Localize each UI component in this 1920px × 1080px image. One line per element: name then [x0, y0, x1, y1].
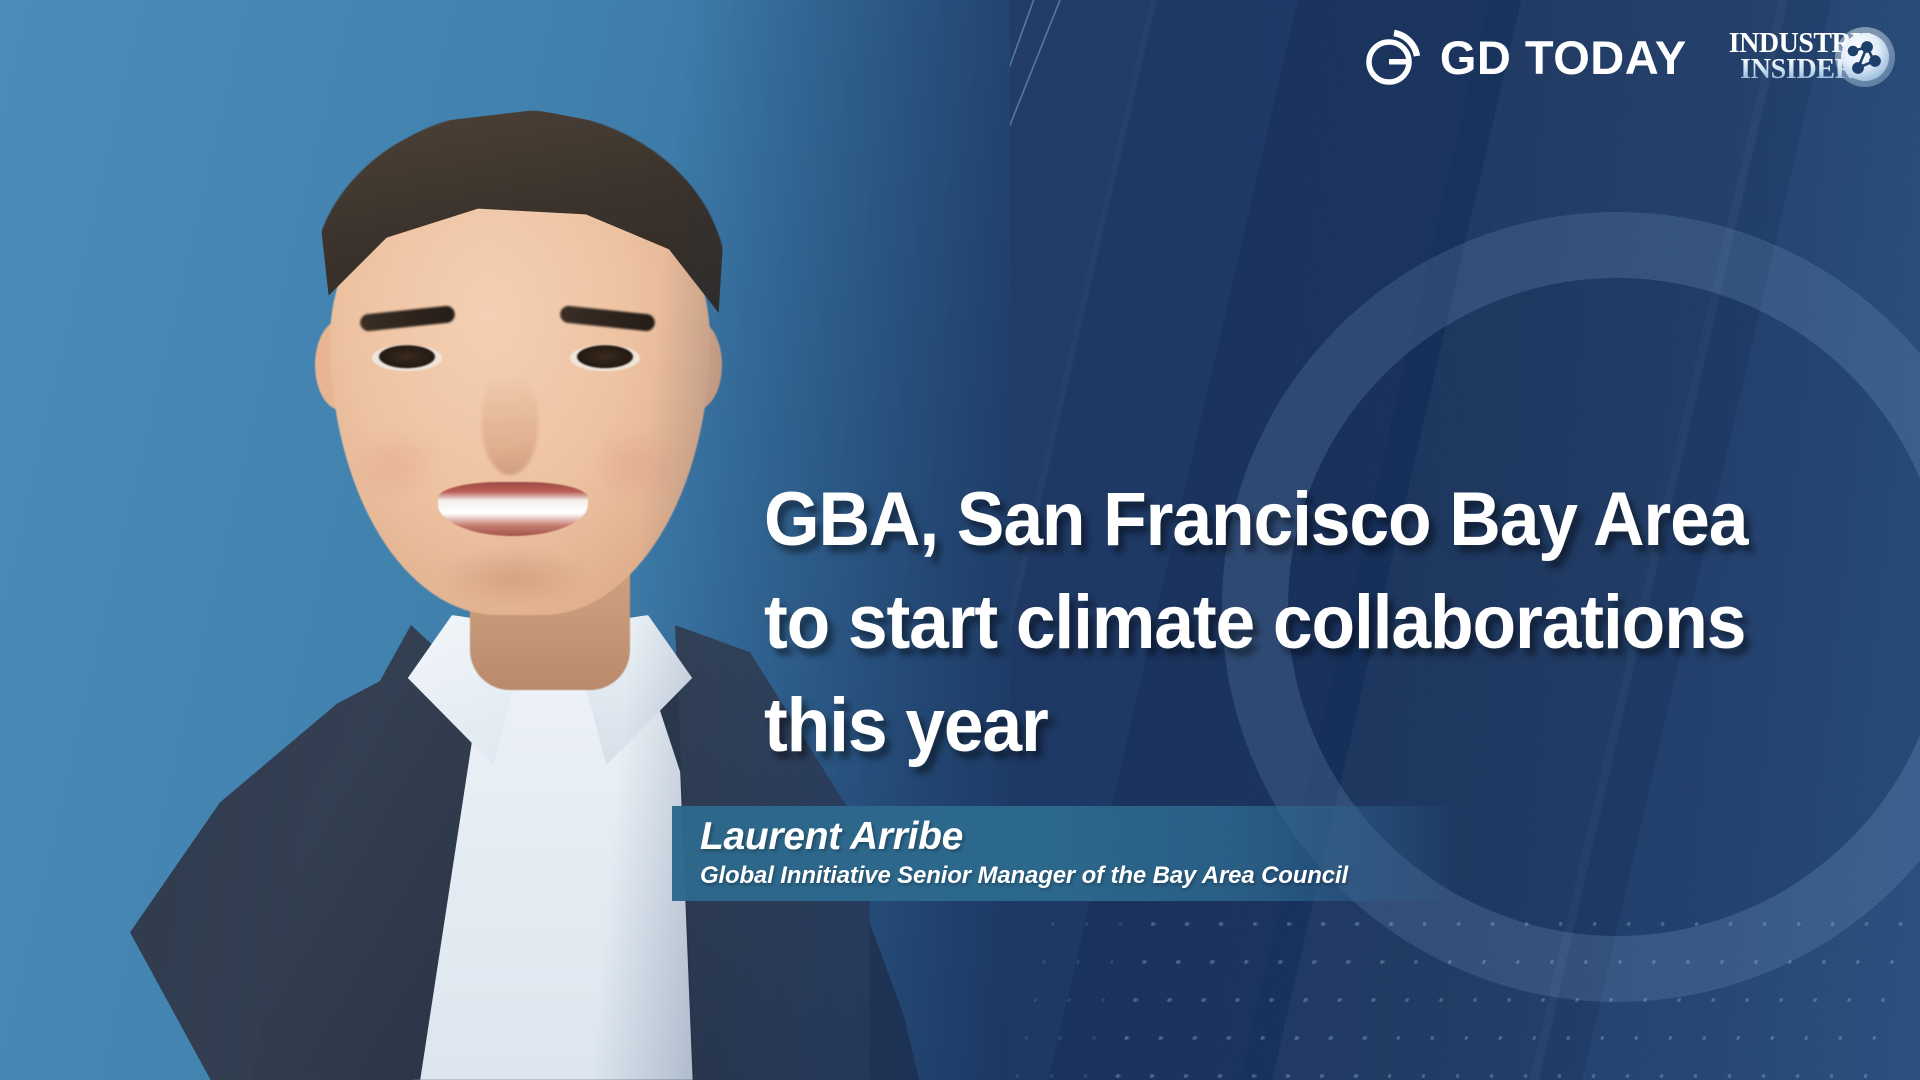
gd-today-wordmark: GD TODAY [1440, 34, 1687, 81]
speaker-title: Global Innitiative Senior Manager of the… [700, 861, 1462, 891]
logo-row: GD TODAY INDUSTRY INSIDERS [1361, 26, 1880, 88]
broadcast-graphic-frame: GD TODAY INDUSTRY INSIDERS [0, 0, 1920, 1080]
page-title: GBA, San Francisco Bay Area to start cli… [764, 468, 1826, 777]
gd-today-logo[interactable]: GD TODAY [1361, 26, 1687, 88]
network-nodes-badge-icon [1834, 26, 1896, 88]
photo-cheek-right [590, 430, 680, 500]
lower-third-name-bar: Laurent Arribe Global Innitiative Senior… [672, 806, 1462, 901]
gd-circle-signal-icon [1361, 26, 1423, 88]
photo-cheek-left [352, 430, 442, 500]
headline-line-1: GBA, San Francisco Bay Area [764, 468, 1826, 571]
photo-chin-shadow [440, 548, 590, 608]
headline-line-3: this year [764, 674, 1826, 777]
photo-nose [482, 375, 538, 475]
headline-line-2: to start climate collaborations [764, 571, 1826, 674]
speaker-name: Laurent Arribe [700, 816, 1462, 857]
photo-eye-left [372, 345, 442, 371]
photo-eye-right [570, 345, 640, 371]
industry-insiders-logo[interactable]: INDUSTRY INSIDERS [1729, 31, 1880, 83]
